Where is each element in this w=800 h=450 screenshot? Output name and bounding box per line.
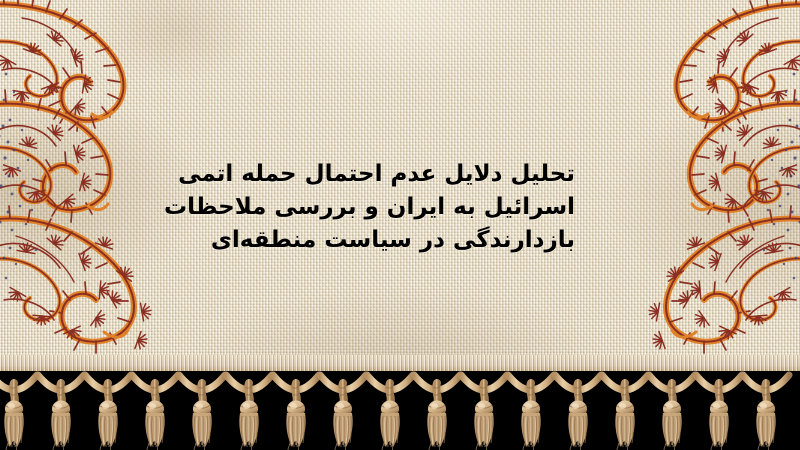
textile-banner: تحلیل دلایل عدم احتمال حمله اتمی اسرائیل… xyxy=(0,0,800,450)
title-line-1: تحلیل دلایل عدم احتمال حمله اتمی xyxy=(200,158,575,191)
tassel-row xyxy=(0,363,800,450)
knotted-tassel-fringe xyxy=(0,355,800,450)
title-line-3: بازدارندگی در سیاست منطقه‌ای xyxy=(200,224,575,257)
banner-title: تحلیل دلایل عدم احتمال حمله اتمی اسرائیل… xyxy=(200,158,575,257)
title-line-2: اسرائیل به ایران و بررسی ملاحظات xyxy=(200,191,575,224)
